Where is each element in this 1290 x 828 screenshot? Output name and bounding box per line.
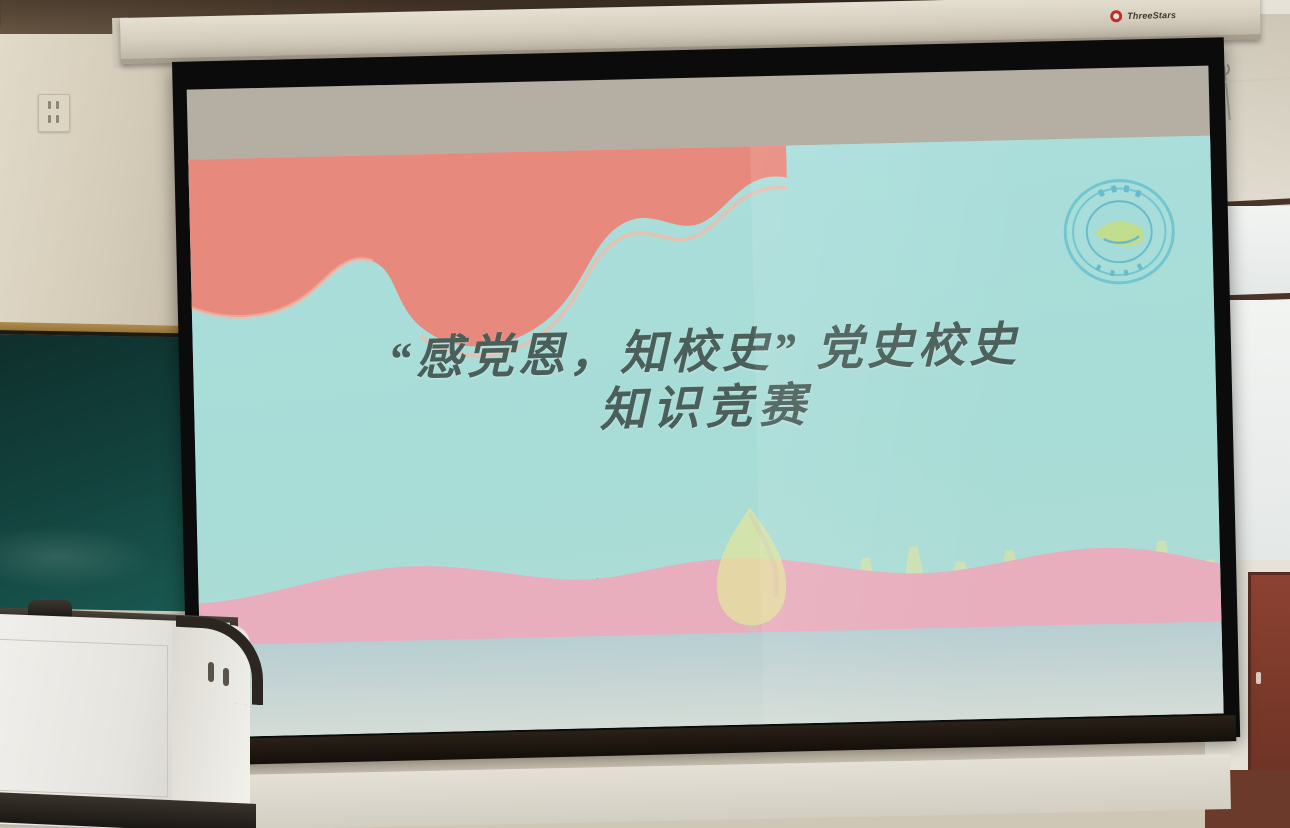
podium-vent-slot-2 — [223, 668, 229, 686]
brand-label: ThreeStars — [1110, 9, 1176, 22]
window-glass-upper — [1220, 206, 1290, 296]
school-seal-emblem-icon — [1059, 174, 1180, 289]
lectern-podium[interactable] — [0, 600, 270, 828]
podium-panel-outline — [0, 639, 168, 798]
brand-name: ThreeStars — [1127, 10, 1176, 21]
podium-arc-trim — [176, 616, 263, 706]
presentation-slide: “感党恩，知校史” 党史校史 知识竞赛 智能制造学院 2022年10月29日 — [188, 136, 1223, 738]
pagoda-silhouette — [695, 502, 808, 640]
door[interactable] — [1248, 572, 1290, 778]
three-stars-logo-icon — [1110, 10, 1122, 22]
chalk-residue — [0, 524, 155, 591]
classroom-scene: ThreeStars — [0, 0, 1290, 828]
chalkboard — [0, 330, 190, 627]
projector-screen: “感党恩，知校史” 党史校史 知识竞赛 智能制造学院 2022年10月29日 — [172, 37, 1240, 772]
slide-title: “感党恩，知校史” 党史校史 知识竞赛 — [192, 314, 1216, 451]
power-outlet-icon — [38, 94, 70, 132]
door-knob-icon[interactable] — [1256, 672, 1261, 684]
podium-vent-slot — [208, 662, 214, 682]
